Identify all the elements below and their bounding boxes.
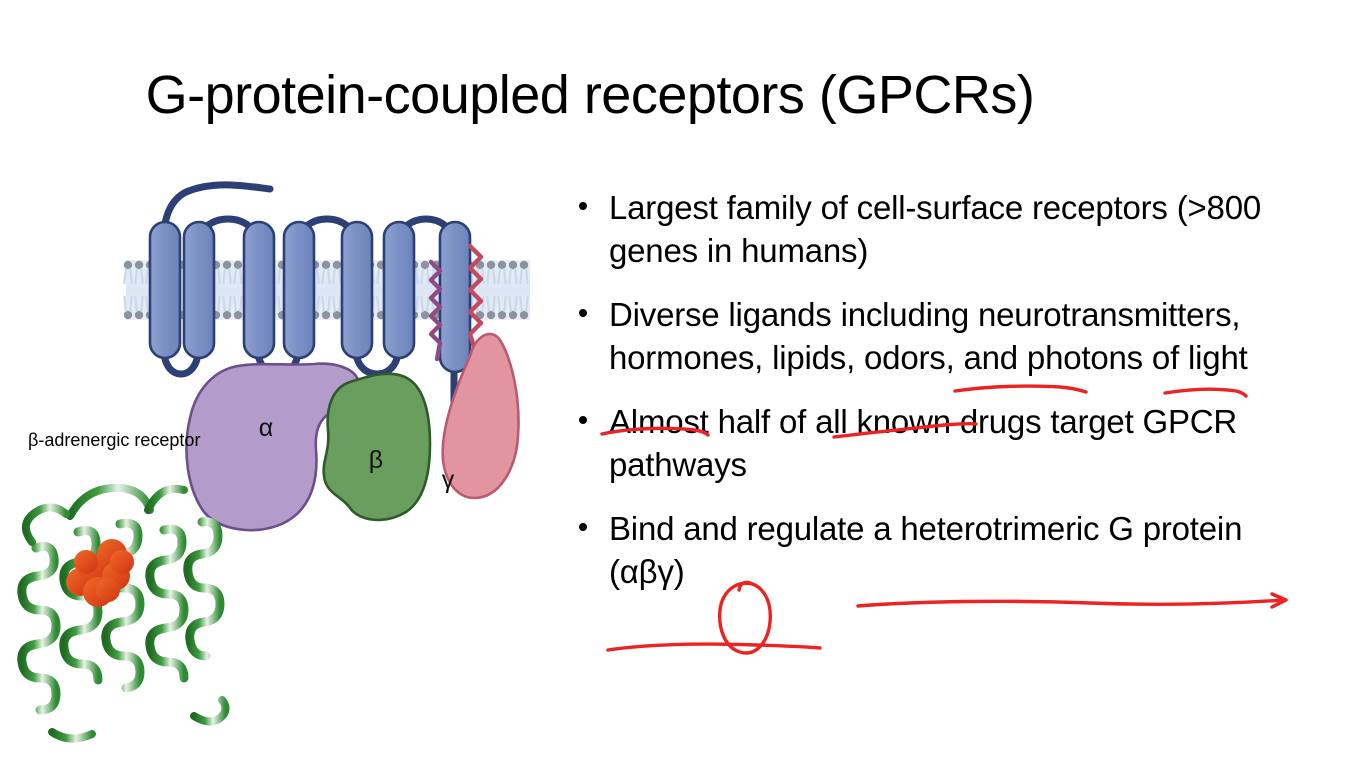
bullet-text: Almost half of all known drugs target GP…: [609, 403, 1237, 483]
list-item: Bind and regulate a heterotrimeric G pro…: [571, 507, 1311, 593]
list-item: Almost half of all known drugs target GP…: [571, 400, 1311, 486]
receptor-caption: β-adrenergic receptor: [28, 428, 200, 452]
beta-adrenergic-receptor-structure: [8, 470, 248, 755]
alpha-subunit-label: α: [259, 414, 273, 442]
bullet-dot-icon: [579, 416, 587, 424]
underline-protein-abg-ink: [608, 644, 820, 650]
bullet-list: Largest family of cell-surface receptors…: [571, 186, 1311, 593]
list-item: Largest family of cell-surface receptors…: [571, 186, 1311, 272]
page-title: G-protein-coupled receptors (GPCRs): [0, 62, 1180, 128]
ribbon-structure-svg: [8, 470, 248, 755]
underline-heterotrimeric-g-ink: [858, 600, 1284, 606]
beta-subunit-label: β: [369, 446, 383, 474]
bullet-dot-icon: [579, 523, 587, 531]
gamma-subunit-label: γ: [442, 466, 455, 494]
bullet-dot-icon: [579, 309, 587, 317]
bullet-text: Diverse ligands including neurotransmitt…: [609, 296, 1248, 376]
underline-heterotrimeric-g-arrowhead: [1272, 594, 1286, 607]
list-item: Diverse ligands including neurotransmitt…: [571, 293, 1311, 379]
bullet-dot-icon: [579, 202, 587, 210]
bullet-text: Largest family of cell-surface receptors…: [609, 189, 1261, 269]
bullet-text: Bind and regulate a heterotrimeric G pro…: [609, 510, 1242, 590]
